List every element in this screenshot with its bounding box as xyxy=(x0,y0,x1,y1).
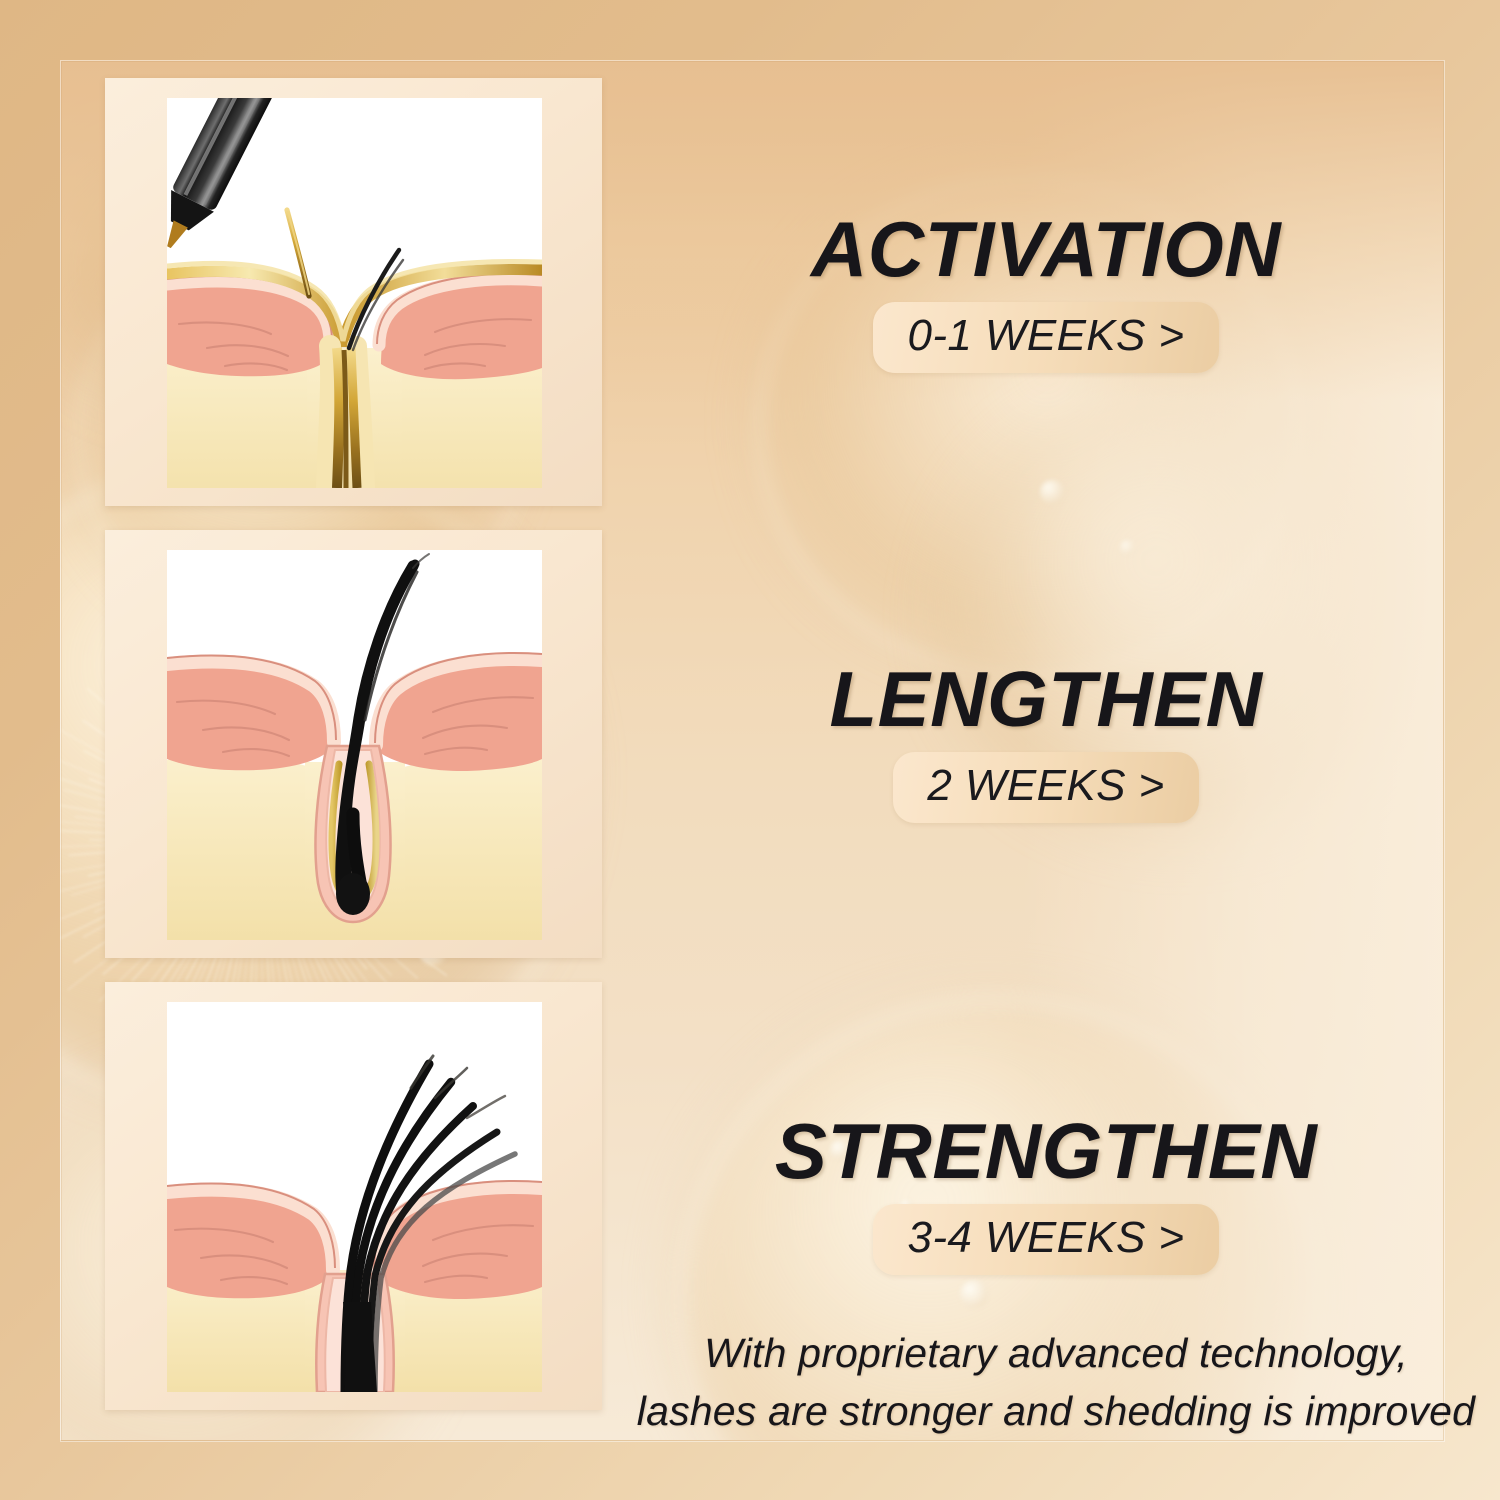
product-infographic-canvas: ACTIVATION 0-1 WEEKS > LENGTHEN 2 WEEKS … xyxy=(0,0,1500,1500)
illustration-panel-column xyxy=(105,78,602,1410)
panel-activation xyxy=(105,78,602,506)
stage-lengthen: LENGTHEN 2 WEEKS > xyxy=(606,660,1486,823)
panel-lengthen xyxy=(105,530,602,958)
stage-activation-title: ACTIVATION xyxy=(606,210,1486,288)
panel-strengthen xyxy=(105,982,602,1410)
stage-lengthen-title: LENGTHEN xyxy=(606,660,1486,738)
stage-activation: ACTIVATION 0-1 WEEKS > xyxy=(606,210,1486,373)
stage-lengthen-duration-badge[interactable]: 2 WEEKS > xyxy=(893,752,1198,823)
footer-caption: With proprietary advanced technology, la… xyxy=(606,1324,1500,1440)
stage-strengthen-title: STRENGTHEN xyxy=(606,1112,1486,1190)
footer-caption-line-1: With proprietary advanced technology, xyxy=(606,1324,1500,1382)
footer-caption-line-2: lashes are stronger and shedding is impr… xyxy=(606,1382,1500,1440)
stage-activation-duration-badge[interactable]: 0-1 WEEKS > xyxy=(873,302,1218,373)
panel-lengthen-art xyxy=(167,550,542,940)
stage-activation-duration-label: 0-1 WEEKS > xyxy=(907,311,1184,360)
stage-lengthen-duration-label: 2 WEEKS > xyxy=(927,761,1164,810)
panel-strengthen-art xyxy=(167,1002,542,1392)
stage-strengthen-duration-label: 3-4 WEEKS > xyxy=(907,1213,1184,1262)
stage-strengthen: STRENGTHEN 3-4 WEEKS > xyxy=(606,1112,1486,1275)
stage-strengthen-duration-badge[interactable]: 3-4 WEEKS > xyxy=(873,1204,1218,1275)
stage-text-column: ACTIVATION 0-1 WEEKS > LENGTHEN 2 WEEKS … xyxy=(606,60,1486,1440)
panel-activation-art xyxy=(167,98,542,488)
